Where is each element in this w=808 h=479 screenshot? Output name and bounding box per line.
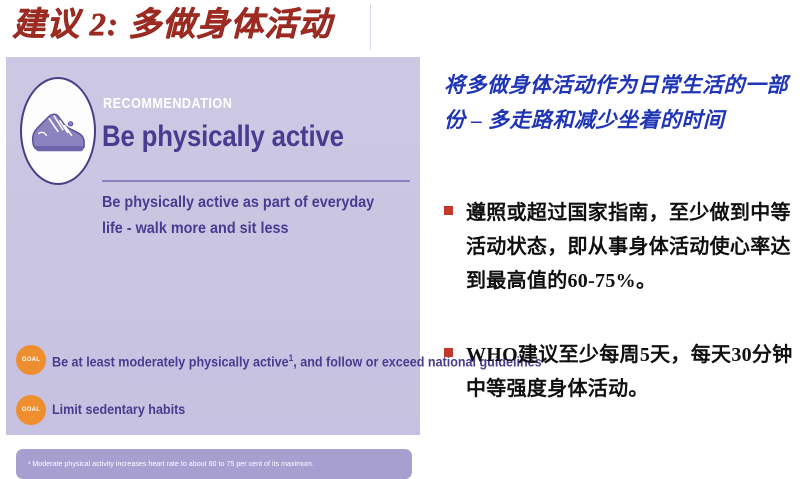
chinese-bullet-text: WHO建议至少每周5天，每天30分钟中等强度身体活动。 (466, 338, 796, 406)
slide-title: 建议 2: 多做身体活动 (12, 2, 382, 50)
chinese-bullet-item: 遵照或超过国家指南，至少做到中等活动状态，即从事身体活动使心率达到最高值的60-… (444, 196, 796, 298)
goal-row: GOAL Be at least moderately physically a… (16, 345, 416, 375)
running-shoe-icon (20, 77, 96, 185)
goal-row: GOAL Limit sedentary habits (16, 395, 416, 425)
recommendation-description: Be physically active as part of everyday… (102, 190, 390, 242)
chinese-heading: 将多做身体活动作为日常生活的一部份 – 多走路和减少坐着的时间 (444, 68, 796, 138)
recommendation-title: Be physically active (102, 120, 344, 154)
red-square-bullet-icon (444, 348, 453, 357)
goal-text-main: Limit sedentary habits (52, 402, 185, 417)
chinese-bullet-text: 遵照或超过国家指南，至少做到中等活动状态，即从事身体活动使心率达到最高值的60-… (466, 196, 796, 298)
footnote-text: ¹ Moderate physical activity increases h… (28, 458, 314, 469)
red-square-bullet-icon (444, 206, 453, 215)
goal-badge-icon: GOAL (16, 345, 46, 375)
goal-text: Limit sedentary habits (52, 402, 185, 418)
recommendation-divider (102, 180, 410, 182)
goal-badge-icon: GOAL (16, 395, 46, 425)
recommendation-kicker: RECOMMENDATION (103, 95, 232, 112)
recommendation-card: RECOMMENDATION Be physically active Be p… (6, 57, 420, 435)
goal-text-main: Be at least moderately physically active (52, 354, 289, 369)
running-shoe-glyph (29, 103, 87, 159)
footnote-box: ¹ Moderate physical activity increases h… (16, 449, 412, 479)
chinese-bullet-item: WHO建议至少每周5天，每天30分钟中等强度身体活动。 (444, 338, 796, 406)
title-divider (370, 4, 371, 50)
